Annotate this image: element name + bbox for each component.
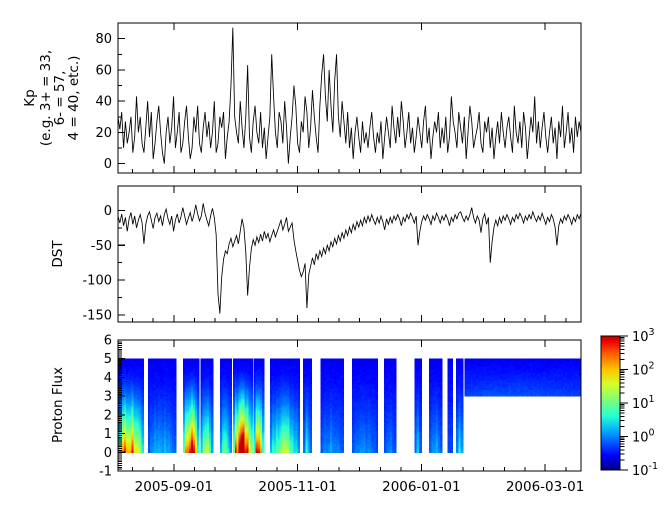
- flux-cell: [309, 450, 312, 453]
- flux-segment: [183, 359, 200, 453]
- ytick-label: 0: [104, 157, 112, 172]
- ytick-label: -50: [91, 239, 112, 254]
- ytick-label: 0: [104, 204, 112, 219]
- flux-cell: [230, 450, 233, 453]
- plot-canvas: 020406080 Kp (e.g. 3+ = 33, 6- = 57, 4 =…: [0, 0, 665, 523]
- flux-segment: [148, 359, 176, 453]
- flux-segment: [320, 359, 344, 453]
- flux-segment: [200, 359, 213, 453]
- flux-cell: [142, 450, 145, 453]
- flux-cell: [197, 450, 200, 453]
- flux-cell: [298, 450, 301, 453]
- flux-segment: [233, 359, 253, 453]
- figure-root: 020406080 Kp (e.g. 3+ = 33, 6- = 57, 4 =…: [0, 0, 665, 523]
- kp-ylabel-line-3: 4 = 40, etc.): [66, 56, 82, 141]
- ytick-label: -100: [82, 274, 112, 289]
- flux-cell: [262, 450, 265, 453]
- flux-segment: [352, 359, 378, 453]
- ytick-label: 20: [95, 126, 112, 141]
- flux-cell: [174, 450, 177, 453]
- flux-segment: [254, 359, 265, 453]
- flux-segment: [270, 359, 300, 453]
- ytick-label: 80: [95, 32, 112, 47]
- flux-cell: [211, 450, 214, 453]
- kp-ylabel-line-0: Kp: [22, 89, 38, 106]
- flux-segment: [220, 359, 232, 453]
- ytick-label: -150: [82, 309, 112, 324]
- flux-cell: [342, 450, 345, 453]
- ytick-label: 60: [95, 63, 112, 78]
- ytick-label: 40: [95, 95, 112, 110]
- flux-segment: [303, 359, 312, 453]
- flux-cell: [250, 450, 253, 453]
- dst-ylabel: DST: [50, 240, 66, 268]
